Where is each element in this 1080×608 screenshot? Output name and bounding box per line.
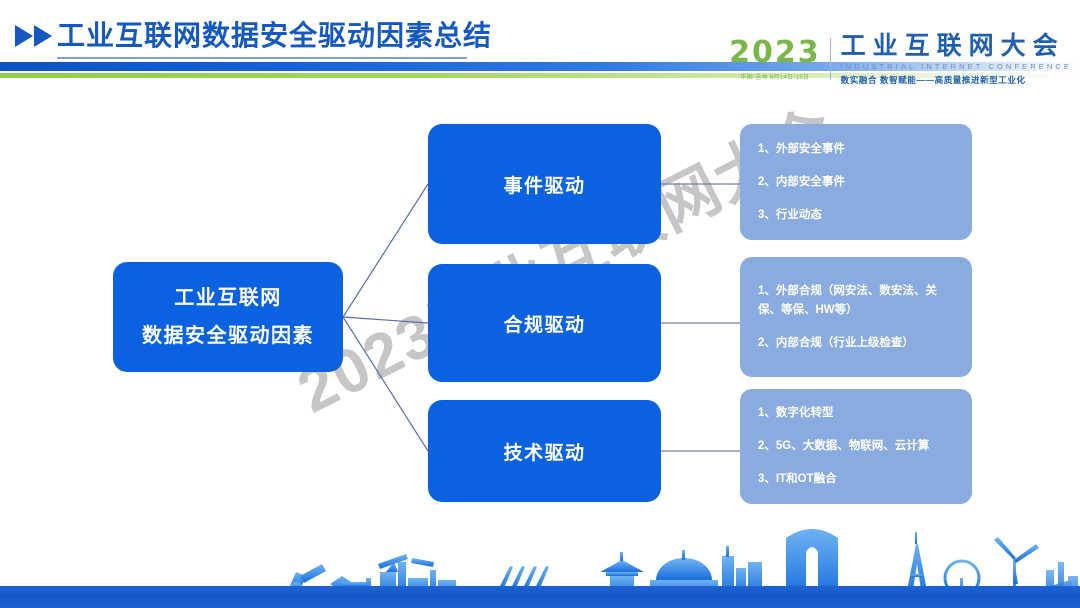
root-node-line1: 工业互联网 [174, 279, 282, 317]
list-item: 2、内部合规（行业上级检查） [758, 334, 958, 353]
logo-name-en: INDUSTRIAL INTERNET CONFERENCE [841, 62, 1072, 71]
detail-panel-event[interactable]: 1、外部安全事件 2、内部安全事件 3、行业动态 [740, 124, 972, 240]
logo-slogan: 数实融合 数智赋能——高质量推进新型工业化 [841, 74, 1072, 86]
branch-node-technology[interactable]: 技术驱动 [428, 400, 661, 502]
logo-year-block: 2023 中国·吉林 8月14日-15日 [729, 38, 830, 81]
logo-year: 2023 [729, 38, 821, 68]
list-item: 3、IT和OT融合 [758, 470, 958, 489]
footer-band [0, 586, 1080, 608]
list-item: 2、内部安全事件 [758, 173, 958, 192]
root-node[interactable]: 工业互联网 数据安全驱动因素 [113, 262, 343, 372]
list-item: 1、数字化转型 [758, 404, 958, 423]
list-item: 3、行业动态 [758, 206, 958, 225]
logo-place: 中国·吉林 8月14日-15日 [740, 72, 809, 81]
logo-name-block: 工业互联网大会 INDUSTRIAL INTERNET CONFERENCE 数… [831, 33, 1072, 86]
logo-name-cn: 工业互联网大会 [841, 33, 1072, 59]
conference-logo: 2023 中国·吉林 8月14日-15日 工业互联网大会 INDUSTRIAL … [729, 32, 1072, 86]
list-item: 1、外部安全事件 [758, 140, 958, 159]
detail-panel-compliance[interactable]: 1、外部合规（网安法、数安法、关保、等保、HW等） 2、内部合规（行业上级检查） [740, 257, 972, 377]
diagram-area: 工业互联网 数据安全驱动因素 事件驱动 合规驱动 技术驱动 1、外部安全事件 2… [0, 92, 1080, 522]
double-triangle-icon [14, 22, 58, 50]
detail-panel-technology[interactable]: 1、数字化转型 2、5G、大数据、物联网、云计算 3、IT和OT融合 [740, 389, 972, 504]
list-item: 2、5G、大数据、物联网、云计算 [758, 437, 958, 456]
branch-node-event[interactable]: 事件驱动 [428, 124, 661, 244]
slide-canvas: 工业互联网数据安全驱动因素总结 2023 中国·吉林 8月14日-15日 工业互… [0, 0, 1080, 608]
root-node-line2: 数据安全驱动因素 [142, 317, 314, 355]
list-item: 1、外部合规（网安法、数安法、关保、等保、HW等） [758, 282, 958, 320]
branch-node-compliance[interactable]: 合规驱动 [428, 264, 661, 382]
title-underline [57, 57, 467, 59]
page-title: 工业互联网数据安全驱动因素总结 [57, 18, 492, 54]
slide-header: 工业互联网数据安全驱动因素总结 2023 中国·吉林 8月14日-15日 工业互… [0, 0, 1080, 92]
